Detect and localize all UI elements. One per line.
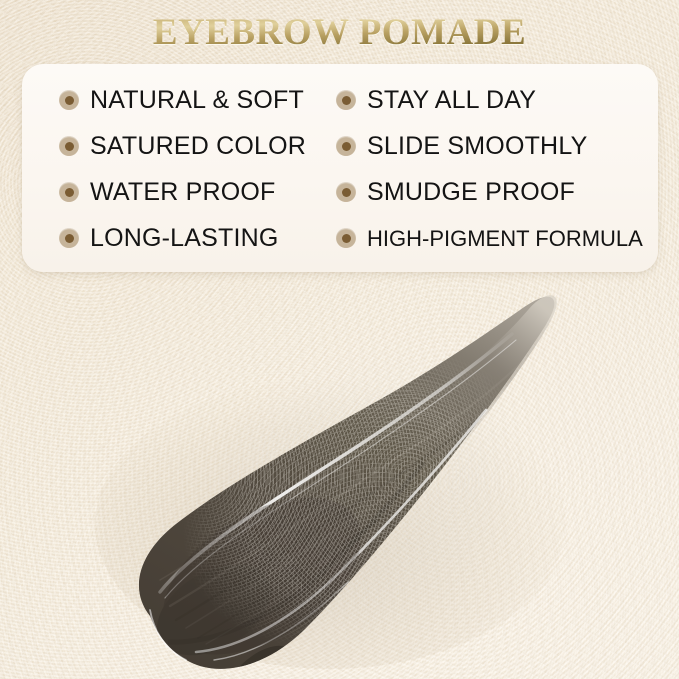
- pomade-swatch-smear: [0, 276, 679, 679]
- feature-item-water-proof: WATER PROOF: [59, 170, 322, 214]
- feature-label: LONG-LASTING: [90, 225, 279, 252]
- feature-label: NATURAL & SOFT: [90, 87, 304, 114]
- feature-label: SMUDGE PROOF: [367, 179, 575, 206]
- feature-item-smudge-proof: SMUDGE PROOF: [336, 170, 658, 214]
- feature-label: SLIDE SMOOTHLY: [367, 133, 587, 160]
- filled-circle-bullet-icon: [336, 90, 356, 110]
- features-left-column: NATURAL & SOFT SATURED COLOR WATER PROOF…: [22, 78, 322, 260]
- page-title-container: EYEBROW POMADE: [0, 11, 679, 55]
- filled-circle-bullet-icon: [336, 182, 356, 202]
- filled-circle-bullet-icon: [59, 90, 79, 110]
- feature-item-natural-soft: NATURAL & SOFT: [59, 78, 322, 122]
- feature-item-satured-color: SATURED COLOR: [59, 124, 322, 168]
- features-right-column: STAY ALL DAY SLIDE SMOOTHLY SMUDGE PROOF…: [322, 78, 658, 260]
- feature-label: HIGH-PIGMENT FORMULA: [367, 225, 643, 252]
- features-card: NATURAL & SOFT SATURED COLOR WATER PROOF…: [22, 64, 658, 272]
- feature-label: STAY ALL DAY: [367, 87, 536, 114]
- feature-item-stay-all-day: STAY ALL DAY: [336, 78, 658, 122]
- feature-label: WATER PROOF: [90, 179, 276, 206]
- feature-item-long-lasting: LONG-LASTING: [59, 216, 322, 260]
- filled-circle-bullet-icon: [59, 228, 79, 248]
- feature-label: SATURED COLOR: [90, 133, 306, 160]
- filled-circle-bullet-icon: [59, 182, 79, 202]
- feature-item-slide-smoothly: SLIDE SMOOTHLY: [336, 124, 658, 168]
- page-title: EYEBROW POMADE: [153, 11, 526, 55]
- feature-item-high-pigment-formula: HIGH-PIGMENT FORMULA: [336, 216, 658, 260]
- filled-circle-bullet-icon: [336, 136, 356, 156]
- product-feature-graphic: EYEBROW POMADE NATURAL & SOFT SATURED CO…: [0, 0, 679, 679]
- features-columns: NATURAL & SOFT SATURED COLOR WATER PROOF…: [22, 64, 658, 272]
- filled-circle-bullet-icon: [336, 228, 356, 248]
- filled-circle-bullet-icon: [59, 136, 79, 156]
